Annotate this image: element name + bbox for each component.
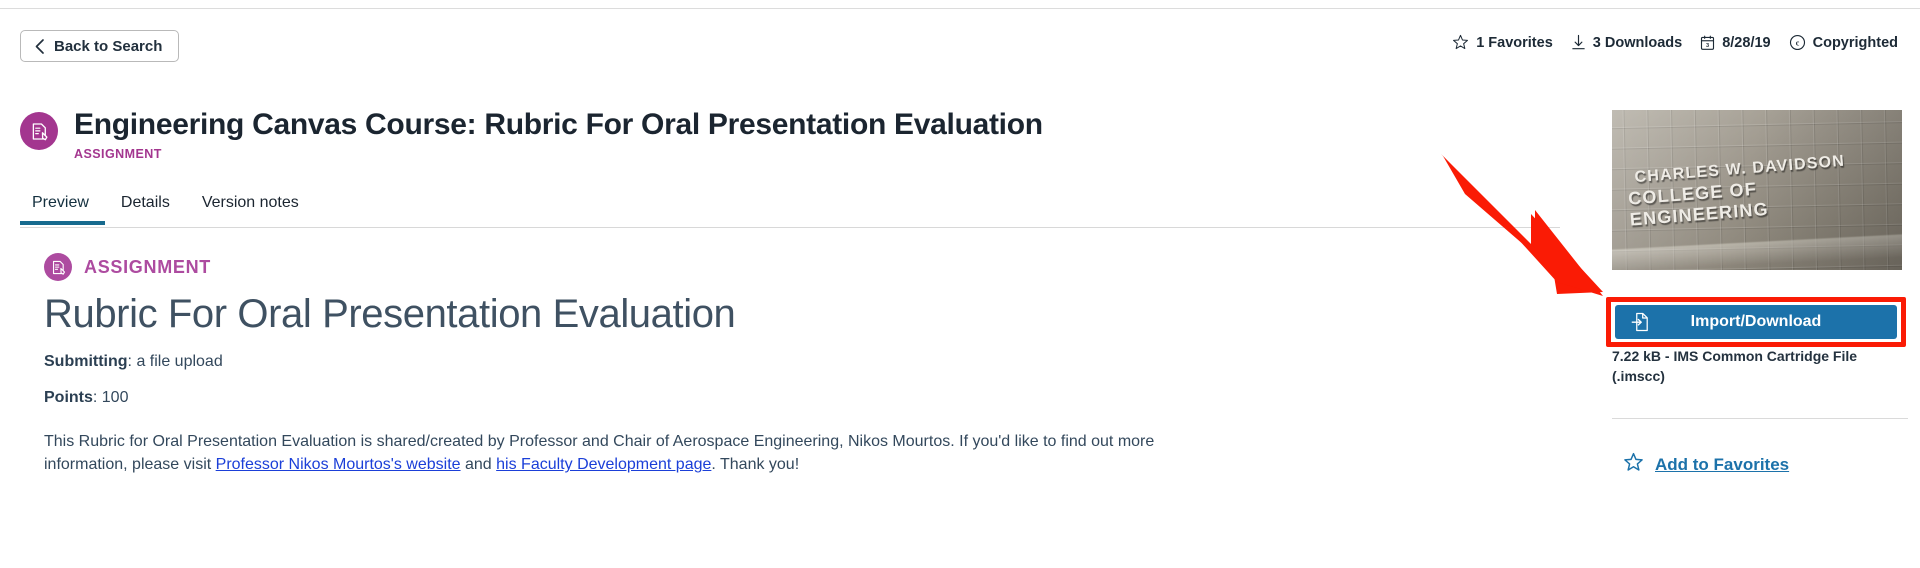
published-date-label: 8/28/19: [1722, 35, 1770, 51]
object-type-label: ASSIGNMENT: [74, 147, 1043, 161]
tab-details[interactable]: Details: [105, 188, 186, 224]
chevron-left-icon: [33, 38, 46, 55]
downloads-count-label: 3 Downloads: [1593, 35, 1682, 51]
top-action-bar: Back to Search 1 Favorites 3 Downloads: [0, 30, 1920, 70]
preview-type-label: ASSIGNMENT: [84, 257, 211, 278]
assignment-badge-icon: [20, 112, 58, 150]
tab-version-notes[interactable]: Version notes: [186, 188, 315, 224]
star-outline-icon: [1623, 452, 1644, 478]
tab-preview[interactable]: Preview: [20, 188, 105, 224]
annotation-arrow: [1435, 152, 1615, 312]
tab-bar: Preview Details Version notes: [20, 188, 1560, 228]
import-download-label: Import/Download: [1691, 313, 1822, 331]
preview-submitting-label: Submitting: [44, 353, 128, 370]
preview-submitting-field: Submitting: a file upload: [44, 351, 1294, 373]
preview-type-row: ASSIGNMENT: [44, 253, 1294, 281]
import-download-button[interactable]: Import/Download: [1615, 305, 1897, 339]
download-arrow-icon: [1571, 34, 1586, 51]
favorites-count: 1 Favorites: [1452, 34, 1553, 51]
published-date: 3 8/28/19: [1700, 35, 1770, 51]
object-metadata: 1 Favorites 3 Downloads 3 8/28/19: [1452, 34, 1898, 51]
preview-submitting-value: : a file upload: [128, 353, 223, 370]
preview-description: This Rubric for Oral Presentation Evalua…: [44, 430, 1239, 476]
add-to-favorites-button[interactable]: Add to Favorites: [1623, 452, 1789, 478]
file-import-icon: [1631, 312, 1649, 332]
favorites-count-label: 1 Favorites: [1476, 35, 1553, 51]
preview-pane: ASSIGNMENT Rubric For Oral Presentation …: [44, 253, 1294, 477]
add-to-favorites-label: Add to Favorites: [1655, 455, 1789, 475]
back-to-search-button[interactable]: Back to Search: [20, 30, 179, 62]
description-text-part3: . Thank you!: [711, 456, 799, 473]
downloads-count: 3 Downloads: [1571, 34, 1682, 51]
top-divider: [0, 8, 1920, 9]
page-header: Engineering Canvas Course: Rubric For Or…: [20, 108, 1320, 161]
file-metadata: 7.22 kB - IMS Common Cartridge File (.im…: [1612, 346, 1902, 387]
preview-points-label: Points: [44, 389, 93, 406]
sidebar-divider: [1612, 418, 1908, 419]
svg-text:3: 3: [1706, 43, 1709, 49]
back-to-search-label: Back to Search: [54, 38, 162, 55]
thumbnail-image: CHARLES W. DAVIDSON COLLEGE OF ENGINEERI…: [1612, 110, 1902, 270]
page-title: Engineering Canvas Course: Rubric For Or…: [74, 108, 1043, 142]
star-outline-icon: [1452, 34, 1469, 51]
faculty-development-link[interactable]: his Faculty Development page: [496, 456, 711, 473]
calendar-icon: 3: [1700, 35, 1715, 51]
assignment-badge-icon: [44, 253, 72, 281]
preview-document-title: Rubric For Oral Presentation Evaluation: [44, 291, 1294, 337]
detail-sidebar: CHARLES W. DAVIDSON COLLEGE OF ENGINEERI…: [1612, 110, 1902, 270]
professor-website-link[interactable]: Professor Nikos Mourtos's website: [216, 456, 461, 473]
svg-text:c: c: [1795, 39, 1799, 48]
description-text-part2: and: [461, 456, 497, 473]
preview-points-value: : 100: [93, 389, 129, 406]
copyright-status-label: Copyrighted: [1813, 35, 1898, 51]
copyright-status: c Copyrighted: [1789, 34, 1898, 51]
preview-points-field: Points: 100: [44, 387, 1294, 409]
copyright-icon: c: [1789, 34, 1806, 51]
